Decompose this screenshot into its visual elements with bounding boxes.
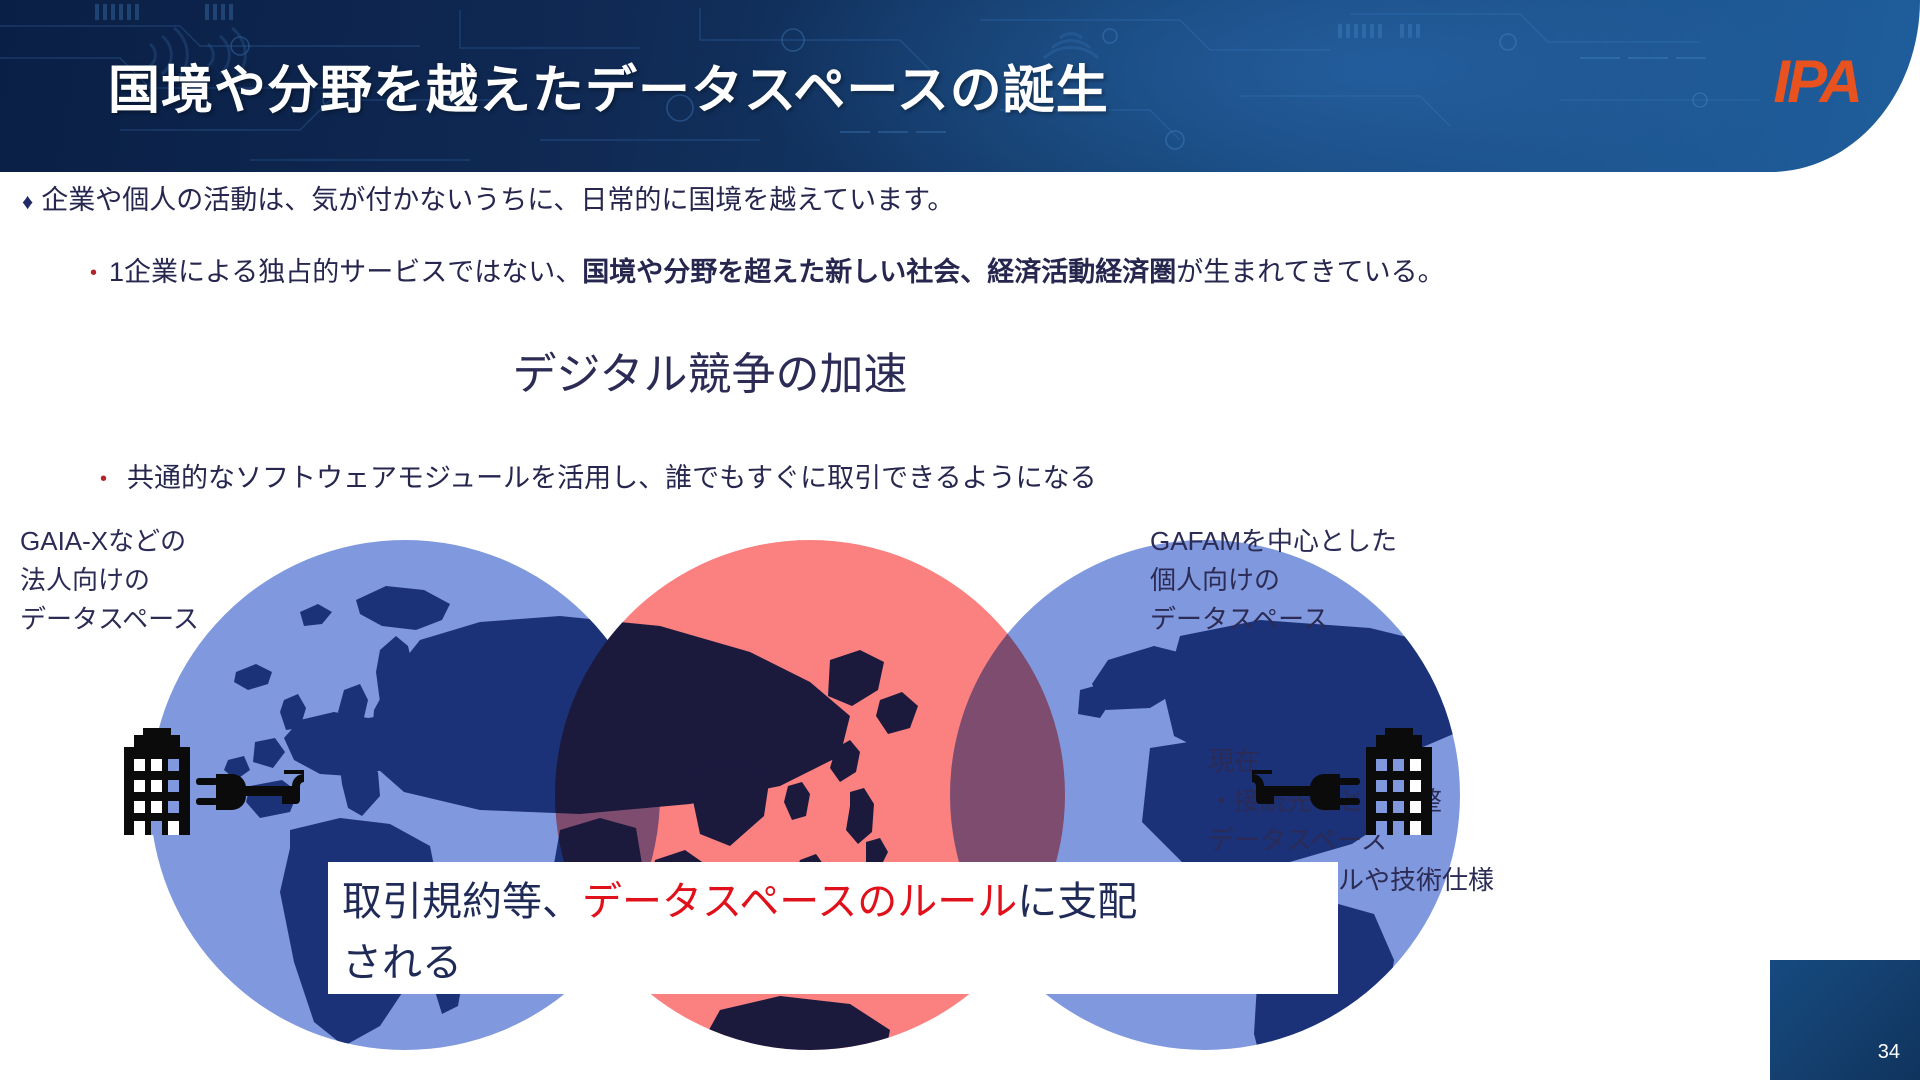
label-right-dataspace: GAFAMを中心とした 個人向けの データスペース: [1150, 522, 1397, 639]
label-left-line1: GAIA-Xなどの: [20, 522, 199, 561]
power-plug-icon: [1252, 765, 1360, 821]
page-number: 34: [1878, 1041, 1900, 1064]
label-right-line2: 個人向けの: [1150, 561, 1397, 600]
label-right-line3: データスペース: [1150, 600, 1397, 639]
callout-line-1: 取引規約等、データスペースのルールに支配: [342, 872, 1324, 933]
building-icon: [118, 725, 196, 835]
label-left-dataspace: GAIA-Xなどの 法人向けの データスペース: [20, 522, 199, 639]
callout-text-red: データスペースのルール: [582, 880, 1017, 924]
label-left-line3: データスペース: [20, 600, 199, 639]
label-left-line2: 法人向けの: [20, 561, 199, 600]
callout-text-before: 取引規約等、: [342, 880, 582, 924]
power-plug-icon: [196, 765, 304, 821]
label-right-line1: GAFAMを中心とした: [1150, 522, 1397, 561]
building-icon: [1360, 725, 1438, 835]
callout-text-after: に支配: [1017, 880, 1137, 924]
callout-line-2: される: [342, 933, 1324, 994]
callout-box: 取引規約等、データスペースのルールに支配 される: [328, 862, 1338, 994]
label-now-line3: データスペース: [1208, 821, 1494, 861]
